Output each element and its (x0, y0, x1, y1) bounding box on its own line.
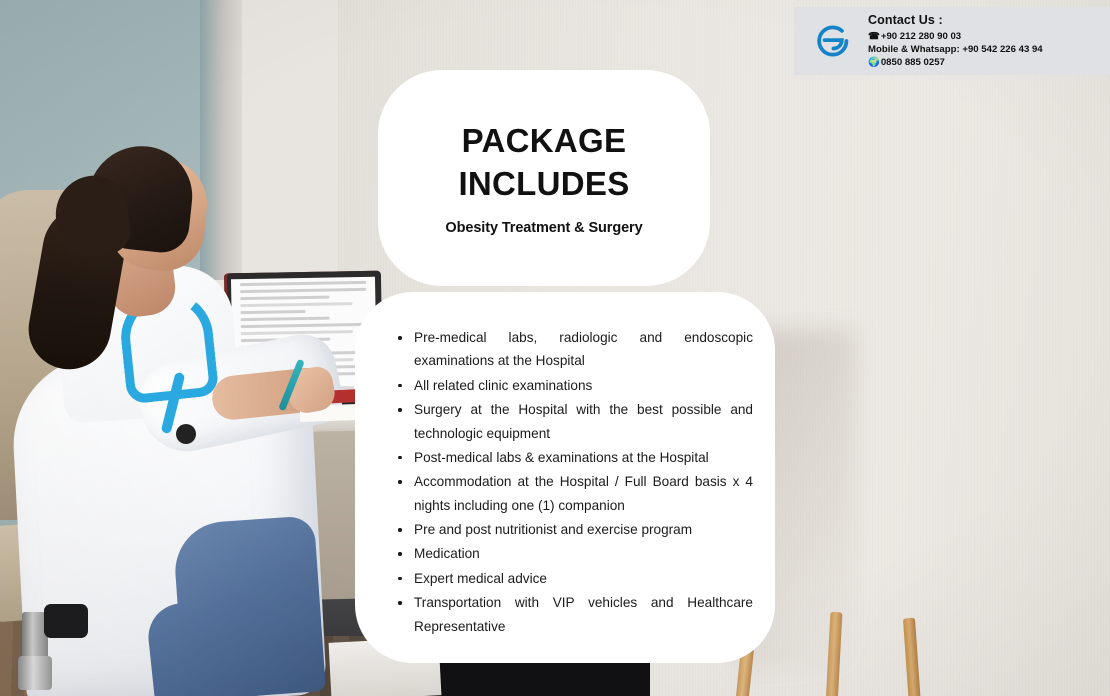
list-item: Expert medical advice (395, 567, 753, 590)
list-item: Accommodation at the Hospital / Full Boa… (395, 470, 753, 517)
title-card: PACKAGE INCLUDES Obesity Treatment & Sur… (378, 70, 710, 286)
list-item: Pre and post nutritionist and exercise p… (395, 518, 753, 541)
contact-line-hotline: 🌍 0850 885 0257 (868, 56, 1098, 69)
page-subtitle: Obesity Treatment & Surgery (445, 220, 642, 236)
contact-hotline-number: 0850 885 0257 (881, 56, 945, 69)
list-item: Post-medical labs & examinations at the … (395, 446, 753, 469)
contact-phone-number: +90 212 280 90 03 (881, 30, 961, 43)
slide-canvas: Contact Us : ☎ +90 212 280 90 03 Mobile … (0, 0, 1110, 696)
list-item: Pre-medical labs, radiologic and endosco… (395, 326, 753, 373)
page-title: PACKAGE INCLUDES (458, 120, 629, 204)
brand-g-logo-icon (812, 20, 854, 62)
contact-line-mobile: Mobile & Whatsapp: +90 542 226 43 94 (868, 43, 1098, 56)
title-line-2: INCLUDES (458, 163, 629, 205)
telephone-icon: ☎ (868, 32, 880, 42)
list-item: Surgery at the Hospital with the best po… (395, 398, 753, 445)
contact-line-phone: ☎ +90 212 280 90 03 (868, 30, 1098, 43)
contact-title: Contact Us : (868, 13, 1098, 27)
list-item: Medication (395, 542, 753, 565)
contact-banner: Contact Us : ☎ +90 212 280 90 03 Mobile … (794, 7, 1110, 75)
contact-mobile-number: Mobile & Whatsapp: +90 542 226 43 94 (868, 43, 1043, 56)
package-items-list: Pre-medical labs, radiologic and endosco… (395, 326, 753, 638)
contact-text-block: Contact Us : ☎ +90 212 280 90 03 Mobile … (868, 13, 1098, 70)
globe-icon: 🌍 (868, 58, 880, 68)
list-item: Transportation with VIP vehicles and Hea… (395, 591, 753, 638)
title-line-1: PACKAGE (458, 120, 629, 162)
list-item: All related clinic examinations (395, 374, 753, 397)
package-includes-card: Pre-medical labs, radiologic and endosco… (355, 292, 775, 663)
